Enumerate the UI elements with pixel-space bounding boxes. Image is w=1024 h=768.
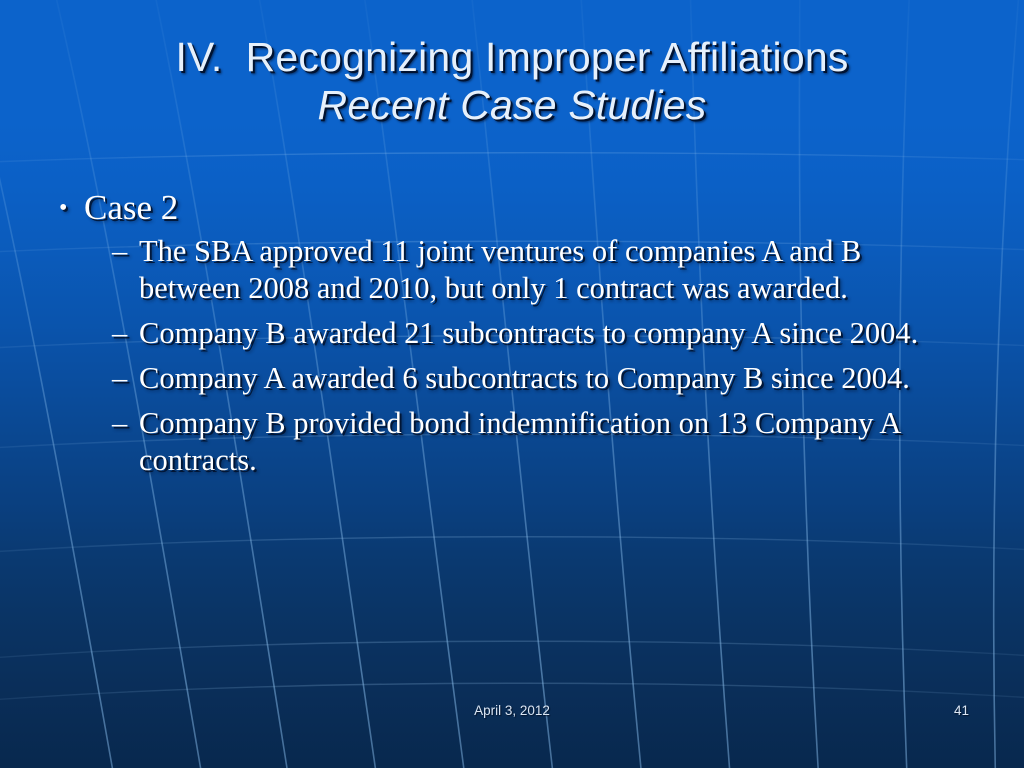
bullet-level2: – Company A awarded 6 subcontracts to Co… bbox=[112, 360, 957, 397]
bullet-dash-icon: – bbox=[112, 360, 139, 397]
bullet-level2: – Company B provided bond indemnificatio… bbox=[112, 405, 957, 479]
bullet-level2: – Company B awarded 21 subcontracts to c… bbox=[112, 315, 957, 352]
bullet-level2: – The SBA approved 11 joint ventures of … bbox=[112, 233, 957, 307]
bullet-level2-label: Company B awarded 21 subcontracts to com… bbox=[139, 315, 957, 352]
bullet-level2-label: Company B provided bond indemnification … bbox=[139, 405, 957, 479]
bullet-level1-label: Case 2 bbox=[84, 186, 980, 230]
slide-footer: April 3, 2012 41 bbox=[0, 703, 1024, 727]
bullet-level2-label: Company A awarded 6 subcontracts to Comp… bbox=[139, 360, 957, 397]
title-line-subtitle: Recent Case Studies bbox=[0, 82, 1024, 129]
bullet-dash-icon: – bbox=[112, 405, 139, 442]
slide-body: • Case 2 – The SBA approved 11 joint ven… bbox=[50, 186, 980, 479]
sub-bullet-list: – The SBA approved 11 joint ventures of … bbox=[50, 233, 980, 479]
bullet-level2-label: The SBA approved 11 joint ventures of co… bbox=[139, 233, 957, 307]
title-line-primary: IV. Recognizing Improper Affiliations bbox=[0, 34, 1024, 81]
footer-date: April 3, 2012 bbox=[0, 703, 1024, 718]
slide-title: IV. Recognizing Improper Affiliations Re… bbox=[0, 34, 1024, 129]
bullet-dash-icon: – bbox=[112, 315, 139, 352]
bullet-level1: • Case 2 bbox=[50, 186, 980, 230]
bullet-dash-icon: – bbox=[112, 233, 139, 270]
bullet-dot-icon: • bbox=[50, 186, 84, 230]
footer-page-number: 41 bbox=[954, 703, 969, 718]
presentation-slide: IV. Recognizing Improper Affiliations Re… bbox=[0, 0, 1024, 768]
